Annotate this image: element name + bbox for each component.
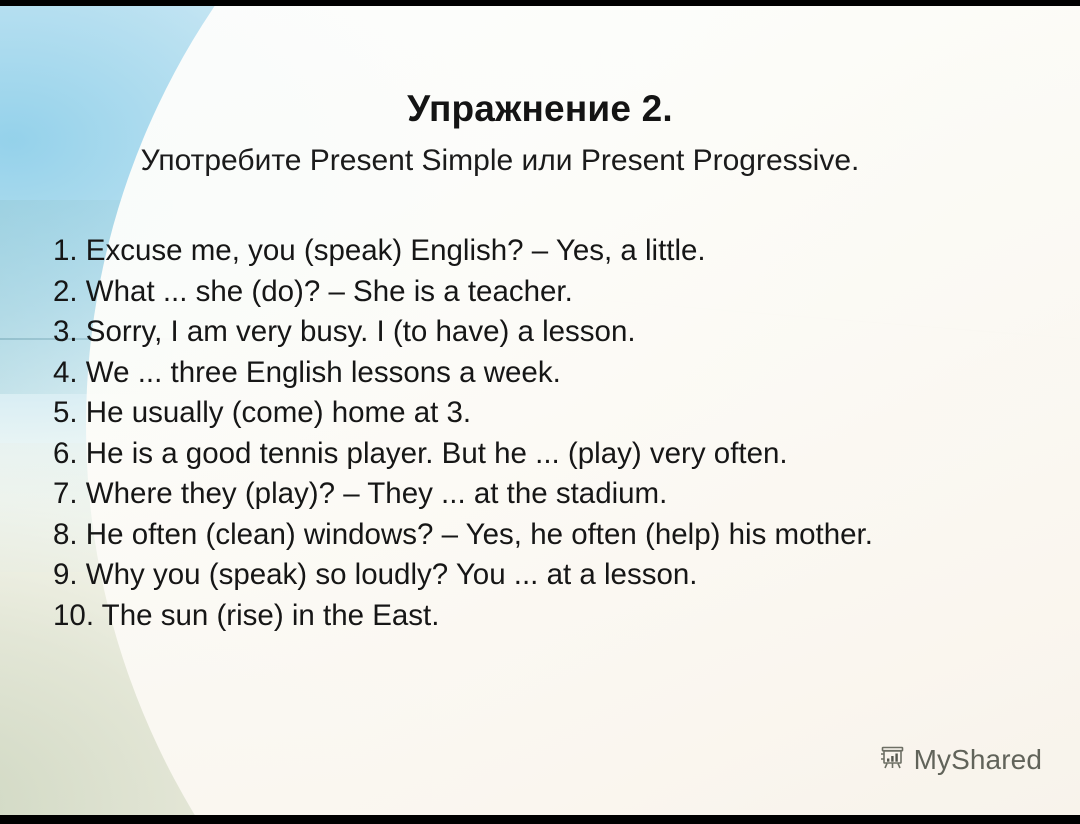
exercise-item: 2. What ... she (do)? – She is a teacher… bbox=[53, 272, 1013, 313]
exercise-item: 7. Where they (play)? – They ... at the … bbox=[53, 474, 1013, 515]
exercise-item: 3. Sorry, I am very busy. I (to have) a … bbox=[53, 312, 1013, 353]
exercise-item: 1. Excuse me, you (speak) English? – Yes… bbox=[53, 231, 1013, 272]
slide-title: Упражнение 2. bbox=[0, 88, 1080, 130]
exercise-item: 9. Why you (speak) so loudly? You ... at… bbox=[53, 555, 1013, 596]
exercise-item: 4. We ... three English lessons a week. bbox=[53, 353, 1013, 394]
slide-content: Упражнение 2. Употребите Present Simple … bbox=[0, 6, 1080, 815]
myshared-watermark-label: MyShared bbox=[914, 744, 1042, 776]
flipchart-bar-chart-icon bbox=[878, 742, 908, 777]
slide-canvas: Упражнение 2. Употребите Present Simple … bbox=[0, 6, 1080, 815]
exercise-item: 10. The sun (rise) in the East. bbox=[53, 596, 1013, 637]
exercise-item: 6. He is a good tennis player. But he ..… bbox=[53, 434, 1013, 475]
exercise-list: 1. Excuse me, you (speak) English? – Yes… bbox=[53, 231, 1013, 636]
presentation-slide: Упражнение 2. Употребите Present Simple … bbox=[0, 0, 1080, 824]
exercise-item: 8. He often (clean) windows? – Yes, he o… bbox=[53, 515, 1013, 556]
exercise-item: 5. He usually (come) home at 3. bbox=[53, 393, 1013, 434]
myshared-watermark: MyShared bbox=[878, 742, 1042, 777]
letterbox-bar-top bbox=[0, 0, 1080, 6]
letterbox-bar-bottom bbox=[0, 815, 1080, 824]
slide-subtitle: Употребите Present Simple или Present Pr… bbox=[0, 144, 1000, 178]
